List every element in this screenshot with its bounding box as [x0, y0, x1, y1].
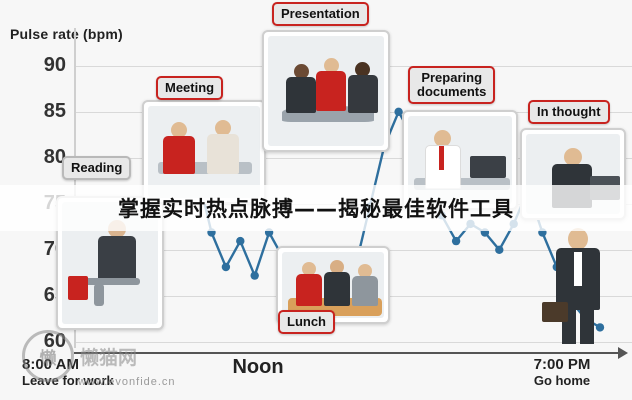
chart-canvas: Pulse rate (bpm) 90 85 80 75 70 65 60 8:… [0, 0, 632, 400]
annotation-preparing-documents: Preparing documents [408, 66, 495, 104]
watermark-name: 懒猫网 [80, 343, 137, 370]
annotation-reading: Reading [62, 156, 131, 180]
annotation-lunch: Lunch [278, 310, 335, 334]
overlay-banner: 掌握实时热点脉搏——揭秘最佳软件工具 [0, 185, 632, 231]
photo-card-presentation [262, 30, 390, 152]
annotation-meeting: Meeting [156, 76, 223, 100]
photo-lunch [282, 252, 384, 318]
annotation-in-thought: In thought [528, 100, 610, 124]
photo-presentation [268, 36, 384, 146]
banner-headline: 掌握实时热点脉搏——揭秘最佳软件工具 [118, 193, 514, 223]
watermark-url: www.evonfide.cn [78, 376, 176, 388]
watermark-logo-icon: 懒 [22, 330, 74, 382]
annotation-presentation: Presentation [272, 2, 369, 26]
watermark: 懒 懒猫网 [22, 330, 137, 382]
figure-businessman [548, 228, 608, 346]
